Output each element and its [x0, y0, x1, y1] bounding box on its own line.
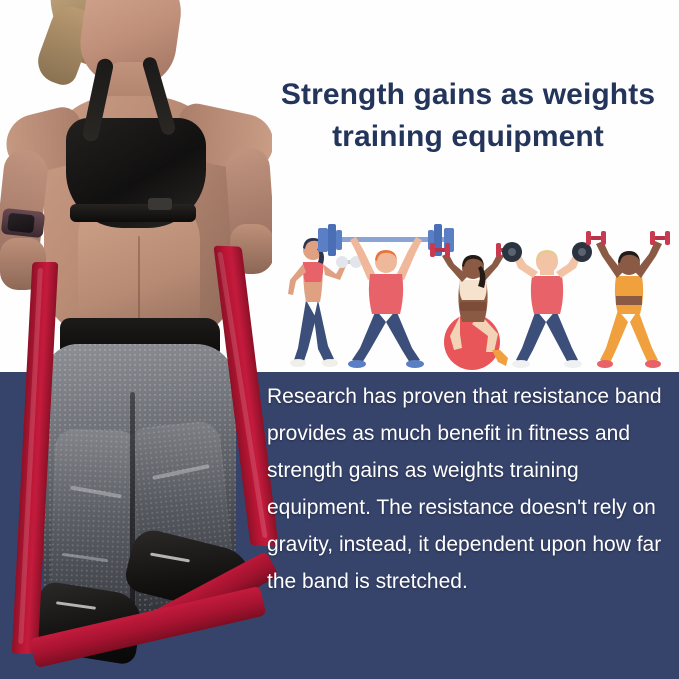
- sports-bra-band: [70, 204, 196, 222]
- dumbbell-pair-top-right-icon: [650, 231, 670, 245]
- page-title-line-1: Strength gains as weights: [262, 74, 674, 116]
- smartwatch-face: [7, 213, 35, 234]
- sports-bra-clip: [148, 198, 172, 210]
- figure-dumbbell-curl-icon: [288, 238, 362, 367]
- page-title-line-2: training equipment: [262, 116, 674, 158]
- page-title: Strength gains as weights training equip…: [262, 74, 674, 158]
- figure-arms-raised-icon: [586, 231, 670, 368]
- dumbbell-small-icon: [336, 256, 362, 268]
- model-ab-line: [138, 236, 140, 322]
- description-panel: Research has proven that resistance band…: [267, 378, 673, 600]
- description-text: Research has proven that resistance band…: [267, 378, 673, 600]
- exercise-illustration-strip: [284, 218, 679, 374]
- figure-shoulder-press-icon: [502, 242, 592, 368]
- product-infographic: Strength gains as weights training equip…: [0, 0, 679, 679]
- dumbbell-pair-top-left-icon: [586, 231, 606, 245]
- figure-stability-ball-icon: [430, 243, 516, 370]
